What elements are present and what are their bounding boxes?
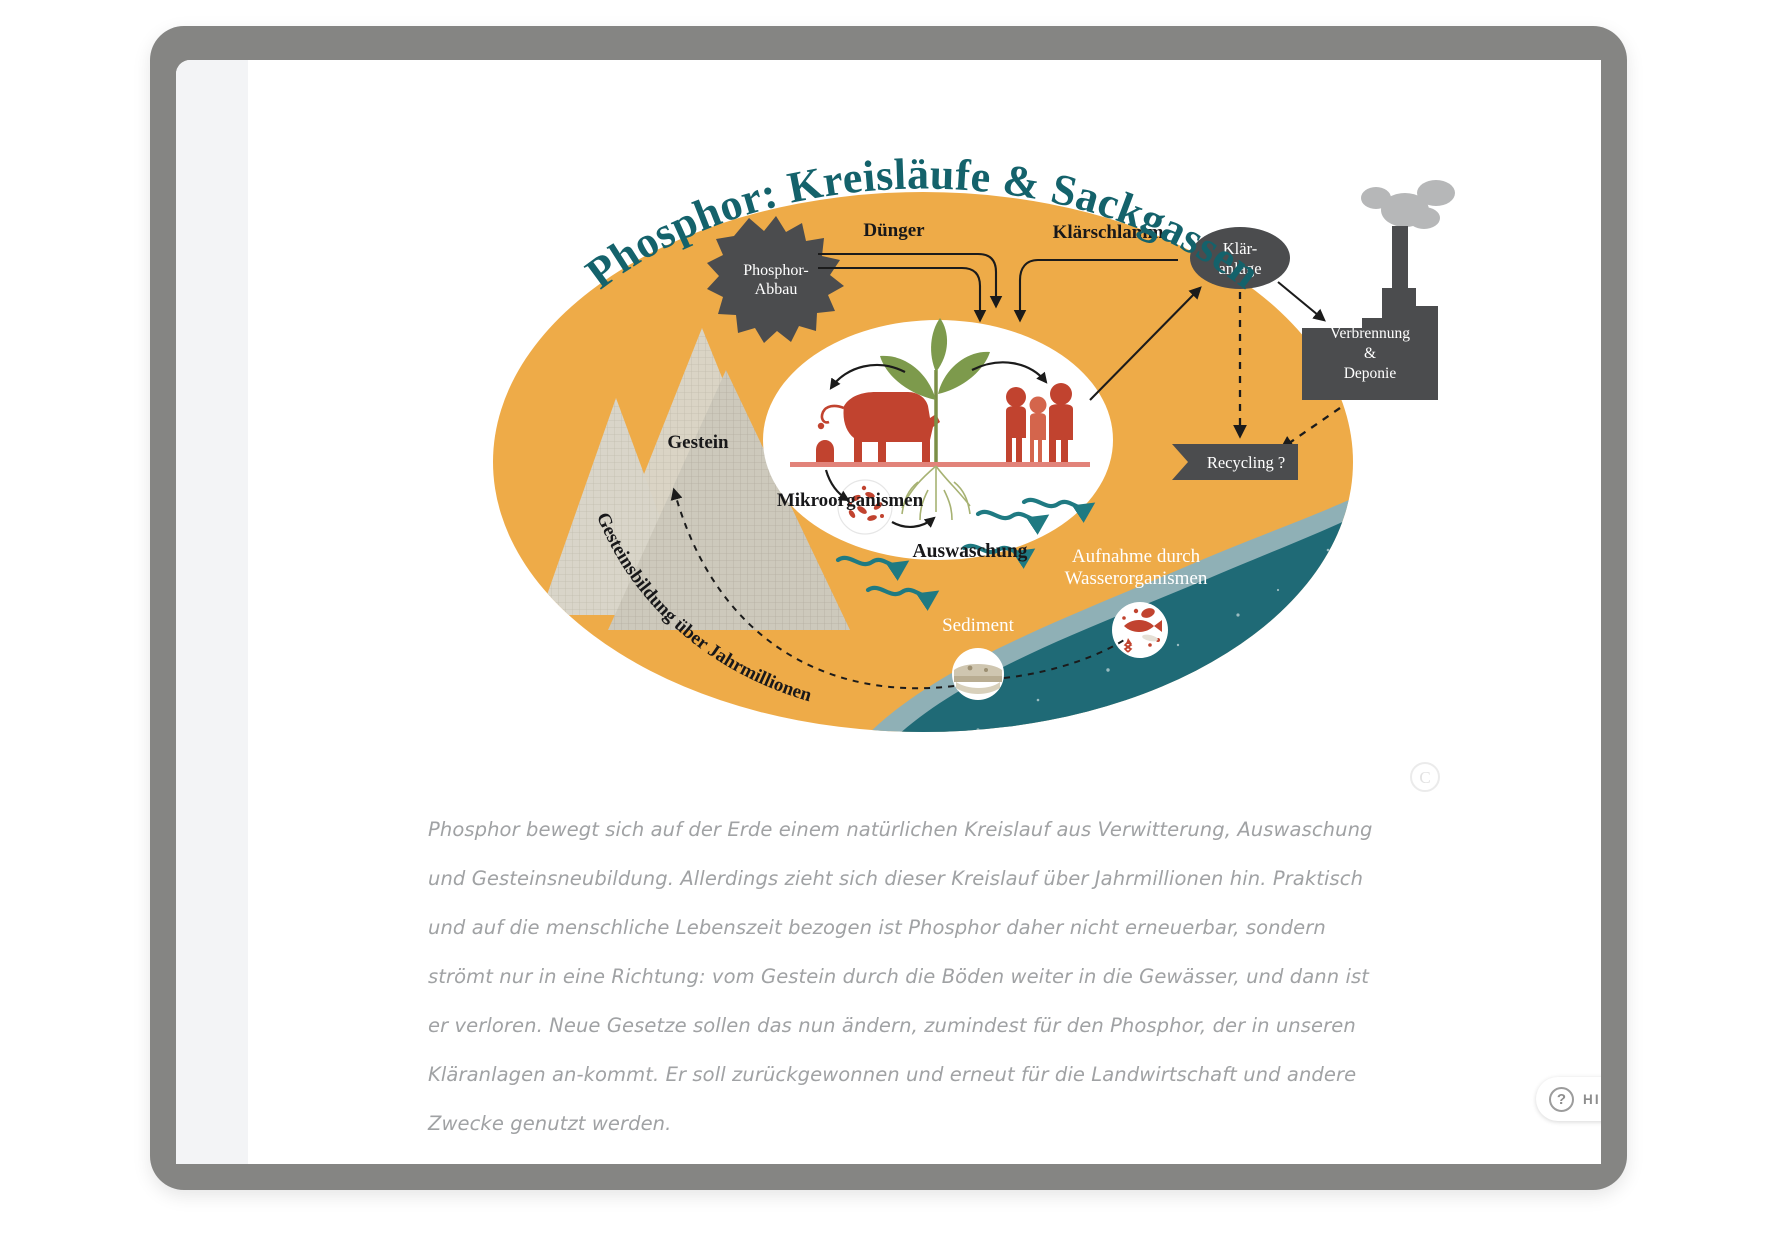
ground-line [790, 462, 1090, 467]
label-verbrennung-2: & [1364, 345, 1376, 362]
phosphorus-cycle-infographic: Gestein [278, 70, 1568, 770]
label-duenger: Dünger [863, 220, 925, 241]
node-verbrennung-deponie: Verbrennung & Deponie [1302, 180, 1455, 400]
fish-icon [1112, 602, 1168, 658]
smoke-icon [1361, 180, 1455, 229]
label-gestein: Gestein [667, 432, 729, 453]
left-rail [176, 60, 248, 1164]
copyright-icon: C [1410, 762, 1440, 792]
caption-paragraph: Phosphor bewegt sich auf der Erde einem … [428, 805, 1388, 1148]
label-auswaschung: Auswaschung [913, 541, 1028, 562]
label-mikroorganismen: Mikroorganismen [777, 490, 924, 511]
question-mark-icon: ? [1549, 1087, 1574, 1112]
arrow-plant-to-incineration [1278, 282, 1324, 320]
caption-block: Phosphor bewegt sich auf der Erde einem … [428, 805, 1388, 1148]
node-recycling: Recycling ? [1172, 444, 1298, 480]
help-button-label: HILFE [1583, 1092, 1601, 1107]
content-pane: Gestein [248, 60, 1601, 1164]
label-aufnahme-1: Aufnahme durch [1072, 546, 1201, 567]
label-recycling: Recycling ? [1207, 453, 1285, 472]
help-button[interactable]: ? HILFE [1536, 1077, 1601, 1121]
device-screen: Gestein [176, 60, 1601, 1164]
label-verbrennung-1: Verbrennung [1330, 325, 1410, 342]
label-sediment: Sediment [942, 615, 1014, 636]
label-verbrennung-3: Deponie [1344, 365, 1397, 382]
label-aufnahme-2: Wasserorganismen [1065, 568, 1208, 589]
device-frame: Gestein [150, 26, 1627, 1190]
label-phosphor-abbau-2: Abbau [755, 281, 798, 298]
label-phosphor-abbau-1: Phosphor- [743, 262, 808, 279]
